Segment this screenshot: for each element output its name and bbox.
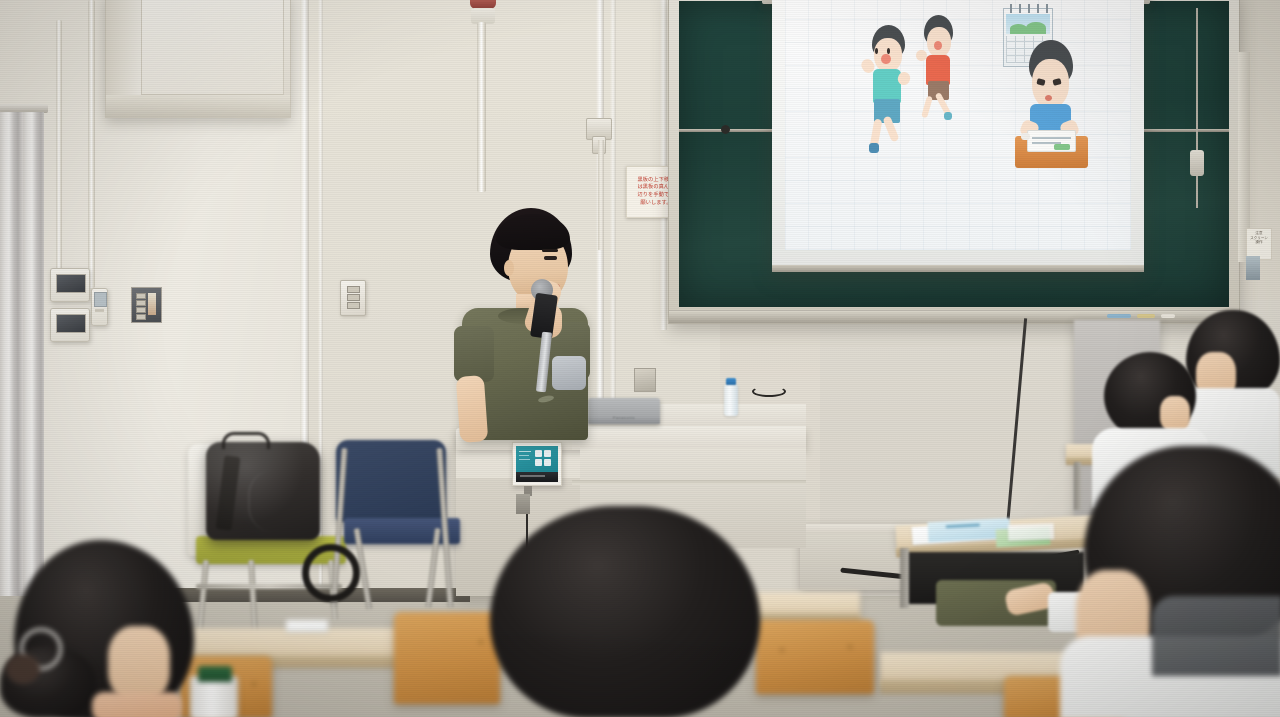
podium-wall-box bbox=[516, 494, 530, 514]
light-switch-1[interactable] bbox=[136, 293, 146, 299]
coiled-cable bbox=[302, 544, 360, 602]
running-child-teal-shirt bbox=[873, 69, 901, 103]
presenter-eyebrow bbox=[542, 249, 558, 252]
screen-pull-cord[interactable] bbox=[1196, 8, 1198, 208]
cabinet-side-panel bbox=[106, 0, 142, 95]
student-back-right-shoulder bbox=[1152, 596, 1280, 676]
student-mid-right-face bbox=[1160, 396, 1190, 432]
projected-slide bbox=[785, 0, 1131, 250]
student-front-left-hair-knot bbox=[6, 654, 40, 684]
presenter-ear bbox=[504, 260, 514, 276]
presenter-eye bbox=[544, 256, 557, 260]
presenter-sleeve-left bbox=[454, 326, 494, 382]
wall-seam-board-left bbox=[660, 0, 667, 330]
podium-water-bottle-cap[interactable] bbox=[726, 378, 736, 385]
wall-conduit-b bbox=[88, 0, 95, 288]
presenter-arm-left bbox=[456, 375, 489, 443]
running-child-teal-mouth bbox=[881, 54, 890, 64]
light-switch-2[interactable] bbox=[136, 300, 146, 306]
projector-switch-3[interactable] bbox=[347, 302, 360, 309]
podium-shelf bbox=[572, 426, 806, 450]
handout-white-2[interactable] bbox=[1008, 523, 1055, 541]
chair-back-front-center-dot bbox=[479, 640, 483, 644]
light-switch-3[interactable] bbox=[136, 307, 146, 313]
av-control-panel-face bbox=[516, 446, 558, 472]
microphone-cable-loop bbox=[752, 386, 786, 397]
ceiling-conduit-pipe bbox=[477, 22, 486, 192]
student-front-left-shoulder bbox=[92, 692, 182, 717]
white-bottle-green-cap[interactable] bbox=[198, 666, 232, 682]
illustration-running-child-teal bbox=[861, 25, 920, 155]
projection-screen[interactable] bbox=[772, 0, 1144, 272]
black-leather-bag[interactable] bbox=[206, 442, 320, 540]
av-control-strip-text bbox=[520, 475, 545, 477]
podium-seam bbox=[572, 480, 806, 485]
desk-back-right-leg bbox=[1074, 462, 1081, 510]
running-child-teal-eye-r bbox=[887, 48, 890, 53]
illustration-running-child-red bbox=[916, 15, 964, 125]
projector-switch-2[interactable] bbox=[347, 294, 360, 301]
chair-back-front-left-dot bbox=[252, 682, 256, 686]
notebook-line-1 bbox=[1032, 137, 1072, 139]
chalk-piece-blue[interactable] bbox=[1107, 314, 1131, 318]
student-front-center-head bbox=[490, 506, 760, 717]
chair-back-center-right[interactable] bbox=[756, 620, 874, 694]
studying-child-eraser bbox=[1021, 133, 1030, 140]
wall-sensor bbox=[1246, 256, 1260, 280]
calendar-spiral-rings bbox=[1007, 4, 1050, 13]
av-control-label-3 bbox=[519, 459, 530, 460]
ac-control-lower[interactable] bbox=[50, 308, 90, 342]
switch-indicator bbox=[148, 293, 156, 315]
desk-front-left-label[interactable] bbox=[286, 620, 328, 632]
chair-back-center-right-dot-r bbox=[848, 645, 852, 649]
desk-mid-right-leg bbox=[900, 548, 909, 608]
av-control-label-2 bbox=[519, 455, 529, 456]
chalk-piece-white[interactable] bbox=[1161, 314, 1175, 318]
studying-child-notebook bbox=[1027, 130, 1076, 152]
presenter bbox=[452, 208, 602, 448]
thermostat-display bbox=[94, 292, 107, 307]
cabinet-door[interactable] bbox=[141, 0, 284, 95]
calendar-photo-hill-right bbox=[1026, 22, 1046, 34]
chair-back-front-center[interactable] bbox=[394, 612, 500, 704]
laptop-brand-label: Panasonic bbox=[613, 415, 635, 420]
bag-seam bbox=[248, 470, 312, 532]
podium-water-bottle[interactable] bbox=[724, 384, 738, 416]
bag-side-strap bbox=[216, 455, 241, 530]
wall-seam-mid-2 bbox=[610, 0, 616, 430]
chalk-piece-yellow[interactable] bbox=[1137, 314, 1155, 318]
screen-weight-bar bbox=[772, 265, 1144, 272]
wall-cabinet[interactable] bbox=[105, 0, 291, 118]
white-bottle[interactable] bbox=[190, 676, 238, 717]
student-front-left-face bbox=[108, 626, 170, 702]
running-child-teal-eye-l bbox=[875, 48, 878, 53]
illustration-studying-child bbox=[1013, 40, 1089, 185]
running-child-red-shoe-r bbox=[944, 112, 953, 120]
ac-control-lower-display bbox=[56, 314, 86, 333]
chair-back-center-right-dot-l bbox=[780, 648, 784, 652]
av-control-button-2[interactable] bbox=[544, 450, 551, 457]
thermostat[interactable] bbox=[91, 288, 108, 326]
light-switch-plate[interactable] bbox=[131, 287, 162, 323]
light-switch-4[interactable] bbox=[136, 314, 146, 320]
notebook-illustration bbox=[1054, 144, 1071, 150]
ac-control-upper-display bbox=[56, 274, 86, 293]
wall-conduit-a bbox=[56, 20, 62, 270]
ac-control-upper[interactable] bbox=[50, 268, 90, 302]
presenter-rolled-cuff bbox=[552, 356, 586, 390]
bag-handle[interactable] bbox=[222, 432, 270, 449]
running-child-teal-shoe-l bbox=[869, 143, 879, 152]
window-curtain[interactable] bbox=[0, 112, 44, 612]
blackboard-knob[interactable] bbox=[721, 125, 730, 134]
calendar-photo bbox=[1006, 14, 1050, 34]
av-control-label-1 bbox=[519, 451, 531, 452]
av-control-button-1[interactable] bbox=[535, 450, 542, 457]
navy-folding-chair-back[interactable] bbox=[336, 440, 446, 522]
handout-blue-title-bar bbox=[946, 524, 981, 529]
running-child-red-mouth bbox=[934, 41, 942, 50]
cabinet-underside bbox=[106, 95, 290, 117]
av-control-button-3[interactable] bbox=[535, 459, 542, 466]
calendar-photo-hill-left bbox=[1010, 24, 1027, 33]
projector-switch-1[interactable] bbox=[347, 286, 360, 293]
wall-socket[interactable] bbox=[634, 368, 656, 392]
av-control-panel-strip bbox=[516, 472, 558, 482]
classroom-photo: 黒板の上下移動 は黒板の真ん中 辺りを手動でお 願いします。 bbox=[0, 0, 1280, 717]
running-child-red-leg-l bbox=[921, 96, 933, 119]
av-control-panel[interactable] bbox=[512, 442, 562, 486]
projector-switch-plate[interactable] bbox=[340, 280, 366, 316]
av-control-button-4[interactable] bbox=[544, 459, 551, 466]
thermostat-button[interactable] bbox=[95, 309, 104, 312]
screen-cord-handle[interactable] bbox=[1190, 150, 1204, 176]
